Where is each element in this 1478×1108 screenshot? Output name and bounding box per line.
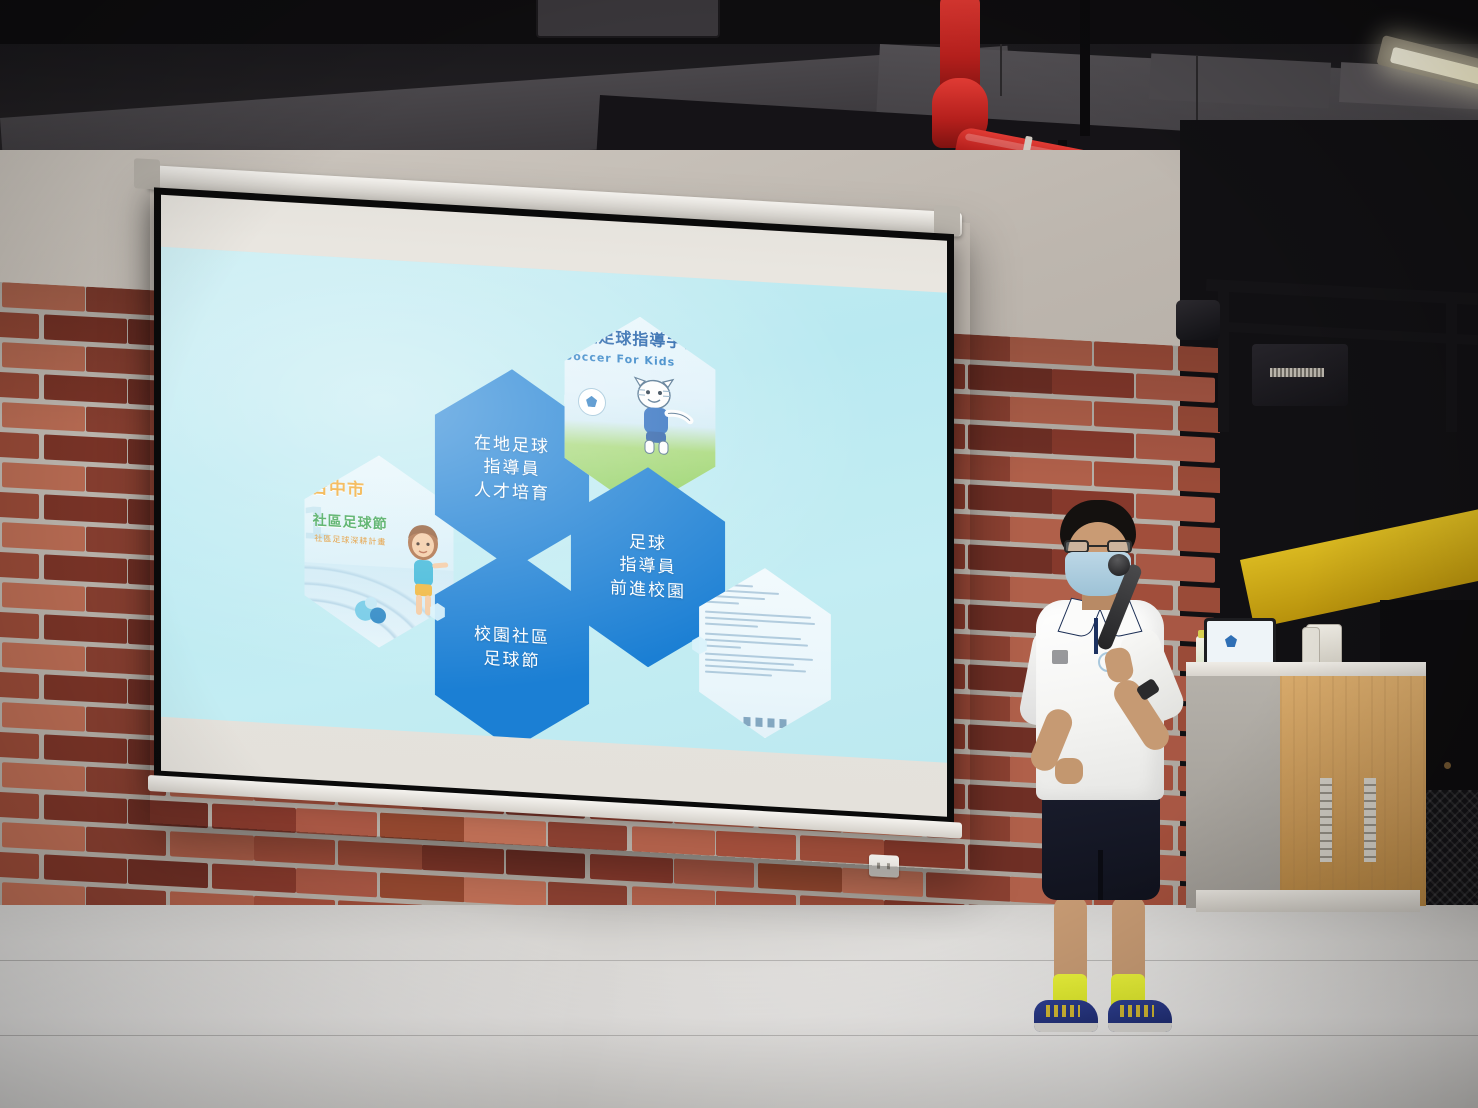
brick: [338, 840, 423, 870]
brick: [1010, 337, 1092, 366]
kids-handbook-subtitle: Soccer For Kids: [564, 350, 675, 369]
brick: [0, 730, 39, 759]
ceiling-panel-a: [1149, 53, 1331, 108]
brick: [1094, 401, 1173, 430]
hex-line-1: 校園社區: [474, 626, 550, 650]
brick: [0, 490, 39, 519]
ceiling-beam-vertical: [1080, 0, 1090, 136]
brick: [1094, 341, 1173, 370]
brick: [1136, 374, 1215, 403]
shoe-sole-left: [1034, 1023, 1098, 1032]
soccer-ball-graphic: [352, 592, 392, 628]
brick: [674, 859, 754, 888]
podium-vent-strip-left: [1320, 778, 1332, 862]
brick: [44, 794, 127, 823]
brick: [2, 282, 85, 311]
podium: [1186, 662, 1426, 920]
podium-vent-strip-right: [1364, 778, 1376, 862]
brick: [2, 642, 85, 671]
hex-line-3: 人才培育: [474, 481, 550, 505]
screen-surface: 1 台中市 社區足球節 社區足球深耕計畫: [161, 195, 947, 817]
brick: [0, 790, 39, 819]
presenter-hand-left: [1055, 758, 1083, 784]
brick: [968, 364, 1053, 394]
brick: [1052, 429, 1134, 458]
presenter-shirt-placket: [1094, 618, 1098, 654]
floor-tile-seam-1: [0, 960, 1478, 961]
hex-line-2: 指導員: [620, 556, 677, 579]
hex-line-3: 前進校園: [610, 579, 686, 603]
brick: [0, 850, 39, 879]
brick: [0, 430, 39, 459]
floor-reflection: [0, 905, 1478, 1108]
presenter-shoe-left: [1034, 1000, 1098, 1032]
brick: [464, 877, 546, 906]
brick: [2, 402, 85, 431]
brick: [0, 550, 39, 579]
brick: [1094, 461, 1173, 490]
brick: [1010, 457, 1092, 486]
tablet-screen: [1207, 621, 1273, 665]
tablet-app-icon: [1225, 635, 1237, 647]
power-outlet[interactable]: [869, 854, 899, 878]
shoe-sole-right: [1108, 1023, 1172, 1032]
podium-front-panel: [1280, 674, 1426, 906]
ceiling-device-mount: [536, 0, 720, 38]
brick: [968, 424, 1053, 454]
brick: [44, 554, 127, 583]
floor-tile-seam-2: [0, 1035, 1478, 1036]
brick: [506, 849, 585, 878]
podium-side-panel: [1186, 670, 1282, 908]
tiger-mascot-illustration: [624, 374, 698, 456]
brick: [44, 854, 127, 883]
brick: [128, 859, 208, 888]
brick: [2, 342, 85, 371]
brick: [86, 827, 166, 856]
rack-post-right: [1446, 292, 1457, 432]
brick: [44, 314, 127, 343]
brick: [2, 582, 85, 611]
shoe-lace-left: [1046, 1005, 1080, 1017]
tablet-device[interactable]: [1204, 618, 1276, 668]
photo-scene: 1 台中市 社區足球節 社區足球深耕計畫: [0, 0, 1478, 1108]
rack-bar-mid: [1206, 321, 1478, 345]
hex-line-2: 指導員: [484, 458, 541, 481]
podium-knob[interactable]: [1444, 762, 1451, 769]
presenter-shorts-split: [1098, 850, 1103, 900]
brick: [758, 863, 842, 893]
podium-base: [1196, 890, 1420, 912]
kids-handbook-title: 兒童足球指導手冊: [564, 321, 700, 353]
ceiling-slab: [0, 0, 1478, 44]
brick: [44, 734, 127, 763]
screen-bracket-right: [934, 205, 960, 237]
pipe-hanger-1: [1000, 44, 1002, 96]
document-seal: [744, 717, 787, 729]
poster-title-main: 台中市: [311, 479, 365, 500]
brick: [1052, 369, 1134, 398]
soccer-ball-icon: [578, 387, 606, 417]
brick: [926, 872, 1011, 902]
brick: [1136, 434, 1215, 463]
brick: [2, 762, 85, 791]
brick: [296, 868, 377, 897]
rack-device-label: [1270, 368, 1324, 377]
brick: [2, 522, 85, 551]
brick: [2, 822, 85, 851]
brick: [170, 831, 254, 861]
screen-bracket-left: [134, 158, 160, 190]
presenter: [1012, 500, 1192, 1020]
brick: [1178, 466, 1220, 495]
brick: [422, 845, 504, 874]
equipment-rack: [1206, 282, 1478, 432]
projected-slide: 1 台中市 社區足球節 社區足球深耕計畫: [161, 247, 947, 763]
projector-screen: 1 台中市 社區足球節 社區足球深耕計畫: [148, 165, 962, 853]
brick: [590, 854, 673, 883]
stage-spotlight: [1176, 300, 1220, 340]
eyeglass-bridge: [1089, 545, 1107, 547]
brick: [0, 370, 39, 399]
brick: [254, 836, 335, 865]
brick: [44, 434, 127, 463]
shoe-lace-right: [1120, 1005, 1154, 1017]
brick: [1010, 397, 1092, 426]
hex-line-2: 足球節: [484, 650, 541, 673]
rack-bar-top: [1206, 279, 1478, 305]
brick: [44, 374, 127, 403]
brick: [44, 614, 127, 643]
brick: [44, 674, 127, 703]
brick: [2, 702, 85, 731]
presenter-shoe-right: [1108, 1000, 1172, 1032]
presenter-shirt-logo-left: [1052, 650, 1068, 664]
brick: [0, 670, 39, 699]
brick: [44, 494, 127, 523]
brick: [0, 610, 39, 639]
brick: [0, 310, 39, 339]
brick: [212, 863, 296, 893]
brick: [380, 873, 465, 903]
hex-line-1: 足球: [629, 533, 667, 555]
screen-frame: 1 台中市 社區足球節 社區足球深耕計畫: [154, 187, 954, 824]
hex-line-1: 在地足球: [474, 434, 550, 458]
brick: [2, 462, 85, 491]
podium-top-surface: [1186, 662, 1426, 676]
